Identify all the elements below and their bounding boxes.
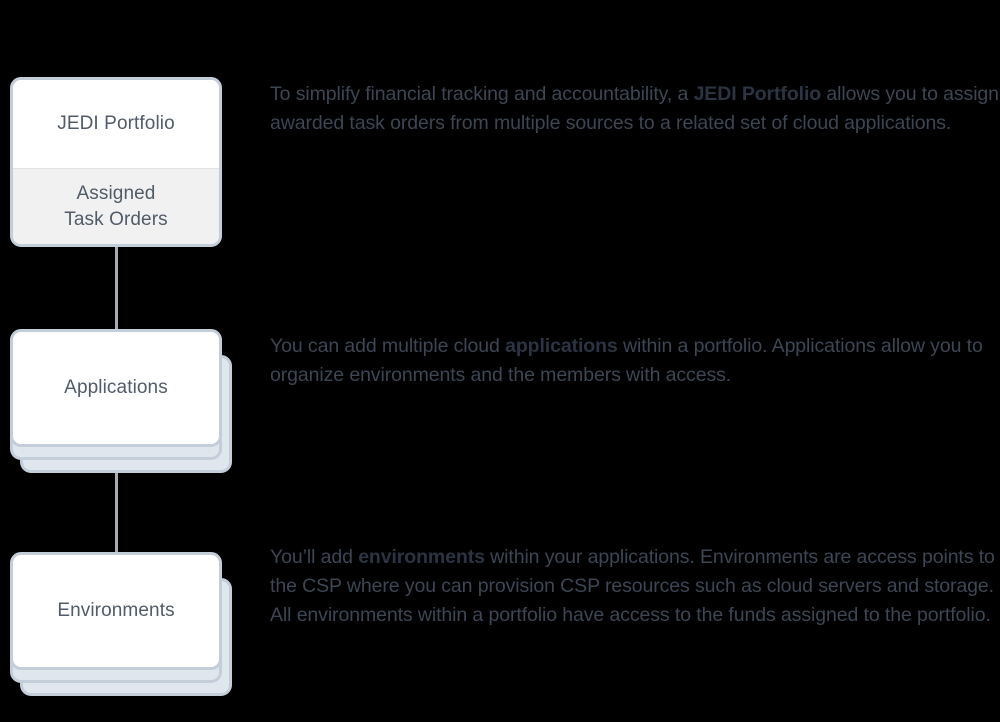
- applications-card[interactable]: Applications: [10, 329, 222, 447]
- node-environments: Environments: [0, 552, 240, 722]
- portfolio-card-subsection: Assigned Task Orders: [13, 169, 219, 245]
- connector-portfolio-to-applications: [115, 243, 118, 331]
- applications-description-emphasis: applications: [505, 335, 618, 357]
- applications-card-stack: Applications: [0, 329, 240, 499]
- applications-description: You can add multiple cloud applications …: [270, 332, 1000, 390]
- environments-description-emphasis: environments: [358, 546, 485, 568]
- portfolio-description: To simplify financial tracking and accou…: [270, 80, 1000, 138]
- portfolio-hierarchy-diagram: JEDI Portfolio Assigned Task Orders To s…: [0, 0, 1000, 707]
- portfolio-description-part-1: To simplify financial tracking and accou…: [270, 83, 694, 105]
- node-applications: Applications: [0, 329, 240, 499]
- environments-card[interactable]: Environments: [10, 552, 222, 670]
- portfolio-card-stack: JEDI Portfolio Assigned Task Orders: [0, 77, 240, 247]
- environments-card-label: Environments: [13, 555, 219, 667]
- applications-description-part-1: You can add multiple cloud: [270, 335, 505, 357]
- assigned-task-orders-line1: Assigned: [77, 183, 156, 204]
- portfolio-card-title: JEDI Portfolio: [13, 80, 219, 169]
- environments-card-stack: Environments: [0, 552, 240, 722]
- environments-description-part-1: You’ll add: [270, 546, 358, 568]
- environments-description: You’ll add environments within your appl…: [270, 543, 1000, 630]
- portfolio-description-emphasis: JEDI Portfolio: [694, 83, 822, 105]
- node-portfolio: JEDI Portfolio Assigned Task Orders: [0, 77, 240, 247]
- applications-card-label: Applications: [13, 332, 219, 444]
- assigned-task-orders-line2: Task Orders: [64, 209, 168, 230]
- portfolio-card[interactable]: JEDI Portfolio Assigned Task Orders: [10, 77, 222, 247]
